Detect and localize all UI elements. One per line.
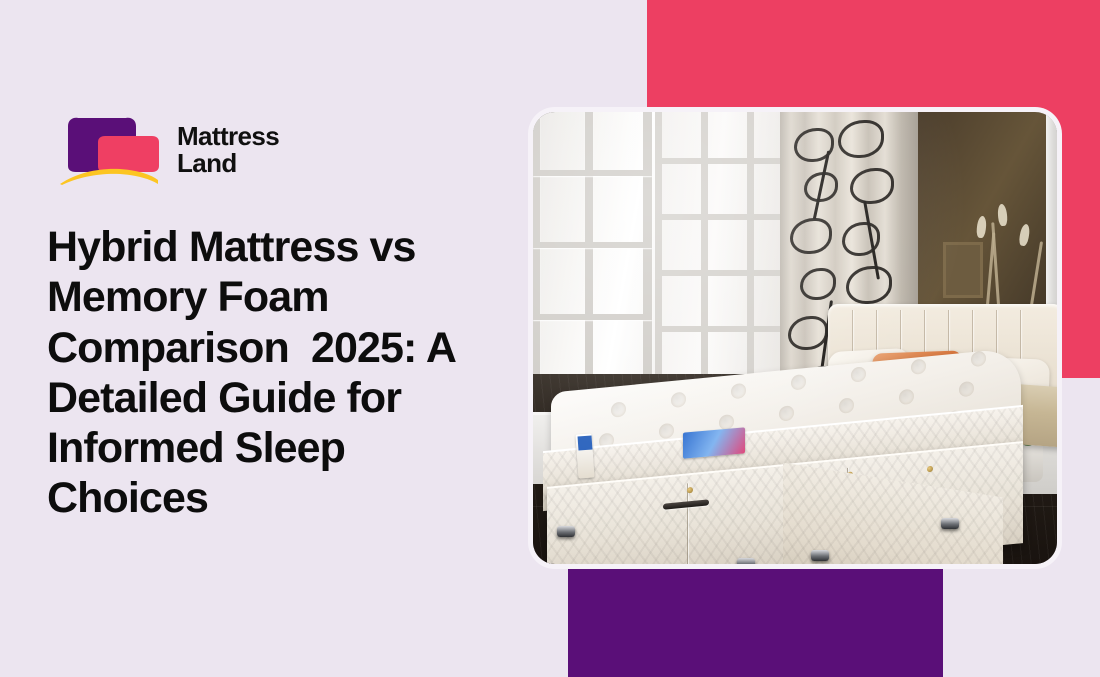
bed-leg-front-right bbox=[811, 550, 829, 561]
hero-photo-card bbox=[533, 112, 1057, 564]
brand-logo[interactable]: Mattress Land bbox=[60, 114, 279, 186]
bedroom-photo bbox=[533, 112, 1057, 564]
bed-leg-back-right bbox=[941, 518, 959, 529]
mattress-tag-badge bbox=[578, 436, 593, 451]
brand-name-line2: Land bbox=[177, 150, 279, 177]
wall-picture-frame bbox=[943, 242, 983, 298]
mattress-pillow-logo-icon bbox=[60, 114, 163, 186]
brand-wordmark: Mattress Land bbox=[177, 123, 279, 176]
purple-decor-block bbox=[568, 567, 943, 677]
page-title: Hybrid Mattress vs Memory Foam Compariso… bbox=[47, 222, 517, 524]
brand-name-line1: Mattress bbox=[177, 123, 279, 150]
mattress-label bbox=[683, 427, 745, 458]
bed-leg-front-left bbox=[557, 526, 575, 537]
hero-banner: Mattress Land Hybrid Mattress vs Memory … bbox=[0, 0, 1100, 677]
bed-leg-mid bbox=[737, 558, 755, 564]
